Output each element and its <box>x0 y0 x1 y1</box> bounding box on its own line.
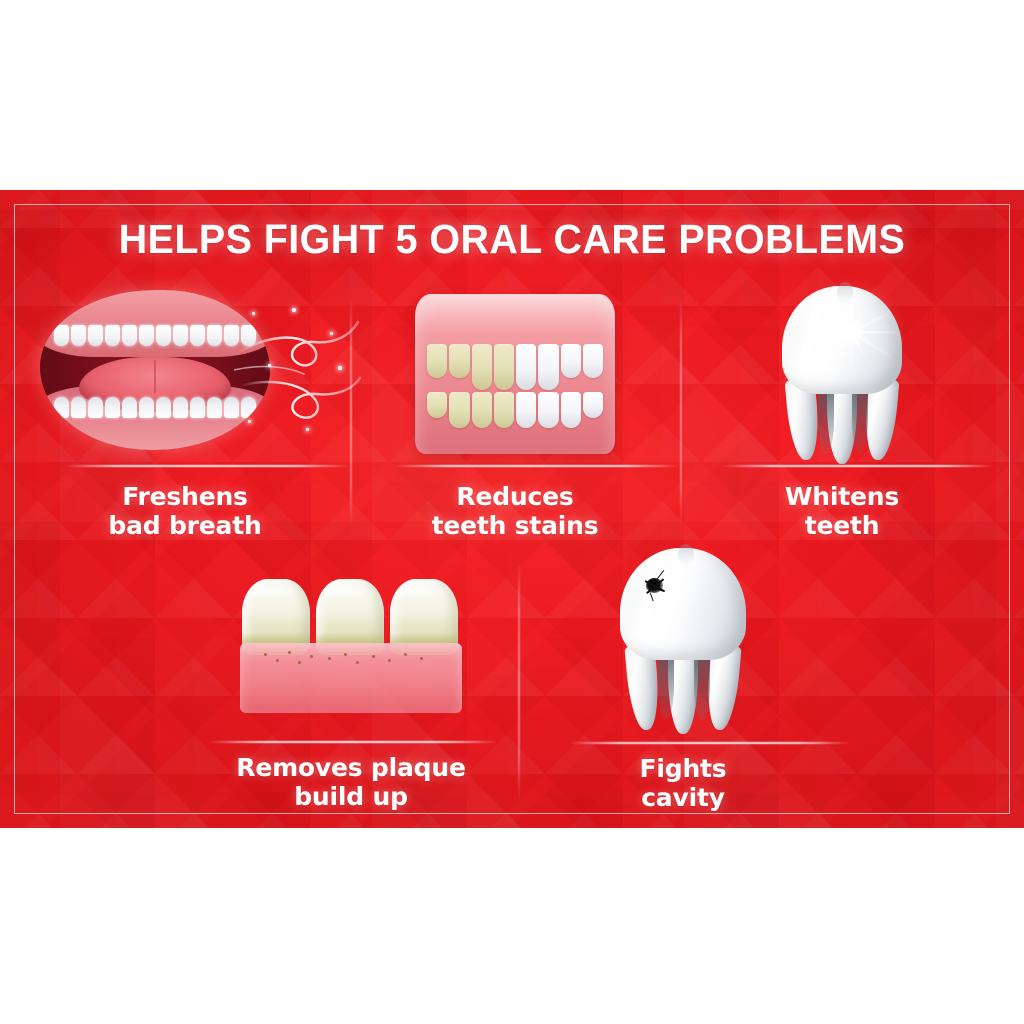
benefit-caption-fights-cavity: Fights cavity <box>520 754 846 812</box>
plaque-molars-gum-icon <box>188 555 514 735</box>
caption-line-1: Reduces <box>456 482 573 511</box>
benefit-caption-whitens-teeth: Whitens teeth <box>682 482 1002 540</box>
page-title: HELPS FIGHT 5 ORAL CARE PROBLEMS <box>20 216 1003 263</box>
root-shadow-2 <box>694 650 710 720</box>
open-mouth-fresh-breath-icon <box>22 286 348 466</box>
cavity-tooth-illustration <box>620 548 746 730</box>
caption-line-2: teeth stains <box>432 511 599 540</box>
benefit-cell-removes-plaque-build-up: Removes plaque build up <box>188 555 514 805</box>
caption-line-1: Freshens <box>122 482 247 511</box>
root-shadow-1 <box>658 650 674 720</box>
sparkling-white-tooth-icon <box>682 286 1002 466</box>
gum-block <box>240 643 462 713</box>
fresh-breath-swirl-icon <box>234 302 364 442</box>
cell-separator-line <box>722 465 994 467</box>
caption-line-1: Whitens <box>785 482 899 511</box>
lower-denture-teeth <box>427 392 603 428</box>
caption-line-2: cavity <box>641 783 725 812</box>
cavity-tooth-icon <box>520 548 846 728</box>
banner-canvas: HELPS FIGHT 5 ORAL CARE PROBLEMS <box>0 0 1024 1024</box>
plaque-molars-illustration <box>236 561 466 721</box>
benefit-cell-freshens-bad-breath: Freshens bad breath <box>22 286 348 536</box>
caption-line-1: Removes plaque <box>236 753 465 782</box>
benefit-cell-whitens-teeth: Whitens teeth <box>682 286 1002 536</box>
red-panel: HELPS FIGHT 5 ORAL CARE PROBLEMS <box>0 190 1024 828</box>
white-tooth-illustration <box>782 286 902 461</box>
benefit-cell-fights-cavity: Fights cavity <box>520 548 846 808</box>
tooth-crown <box>620 548 746 660</box>
root-shadow-2 <box>852 384 868 454</box>
caption-line-2: bad breath <box>108 511 261 540</box>
benefit-cell-reduces-teeth-stains: Reduces teeth stains <box>352 286 678 536</box>
cell-separator-line <box>64 465 349 467</box>
benefit-caption-removes-plaque-build-up: Removes plaque build up <box>188 753 514 811</box>
cell-separator-line <box>394 465 679 467</box>
benefit-caption-freshens-bad-breath: Freshens bad breath <box>22 482 348 540</box>
cell-separator-line <box>568 742 850 744</box>
stained-teeth-model-icon <box>352 286 678 466</box>
upper-denture-teeth <box>427 344 603 390</box>
caption-line-2: teeth <box>805 511 880 540</box>
caption-line-2: build up <box>294 782 408 811</box>
caption-line-1: Fights <box>640 754 727 783</box>
root-shadow-1 <box>818 384 834 454</box>
benefit-caption-reduces-teeth-stains: Reduces teeth stains <box>352 482 678 540</box>
cell-separator-line <box>208 741 498 743</box>
upper-teeth-row <box>54 325 256 346</box>
sparkle-shine-icon <box>792 272 912 392</box>
denture-model <box>415 294 615 454</box>
lower-teeth-row <box>54 397 256 418</box>
